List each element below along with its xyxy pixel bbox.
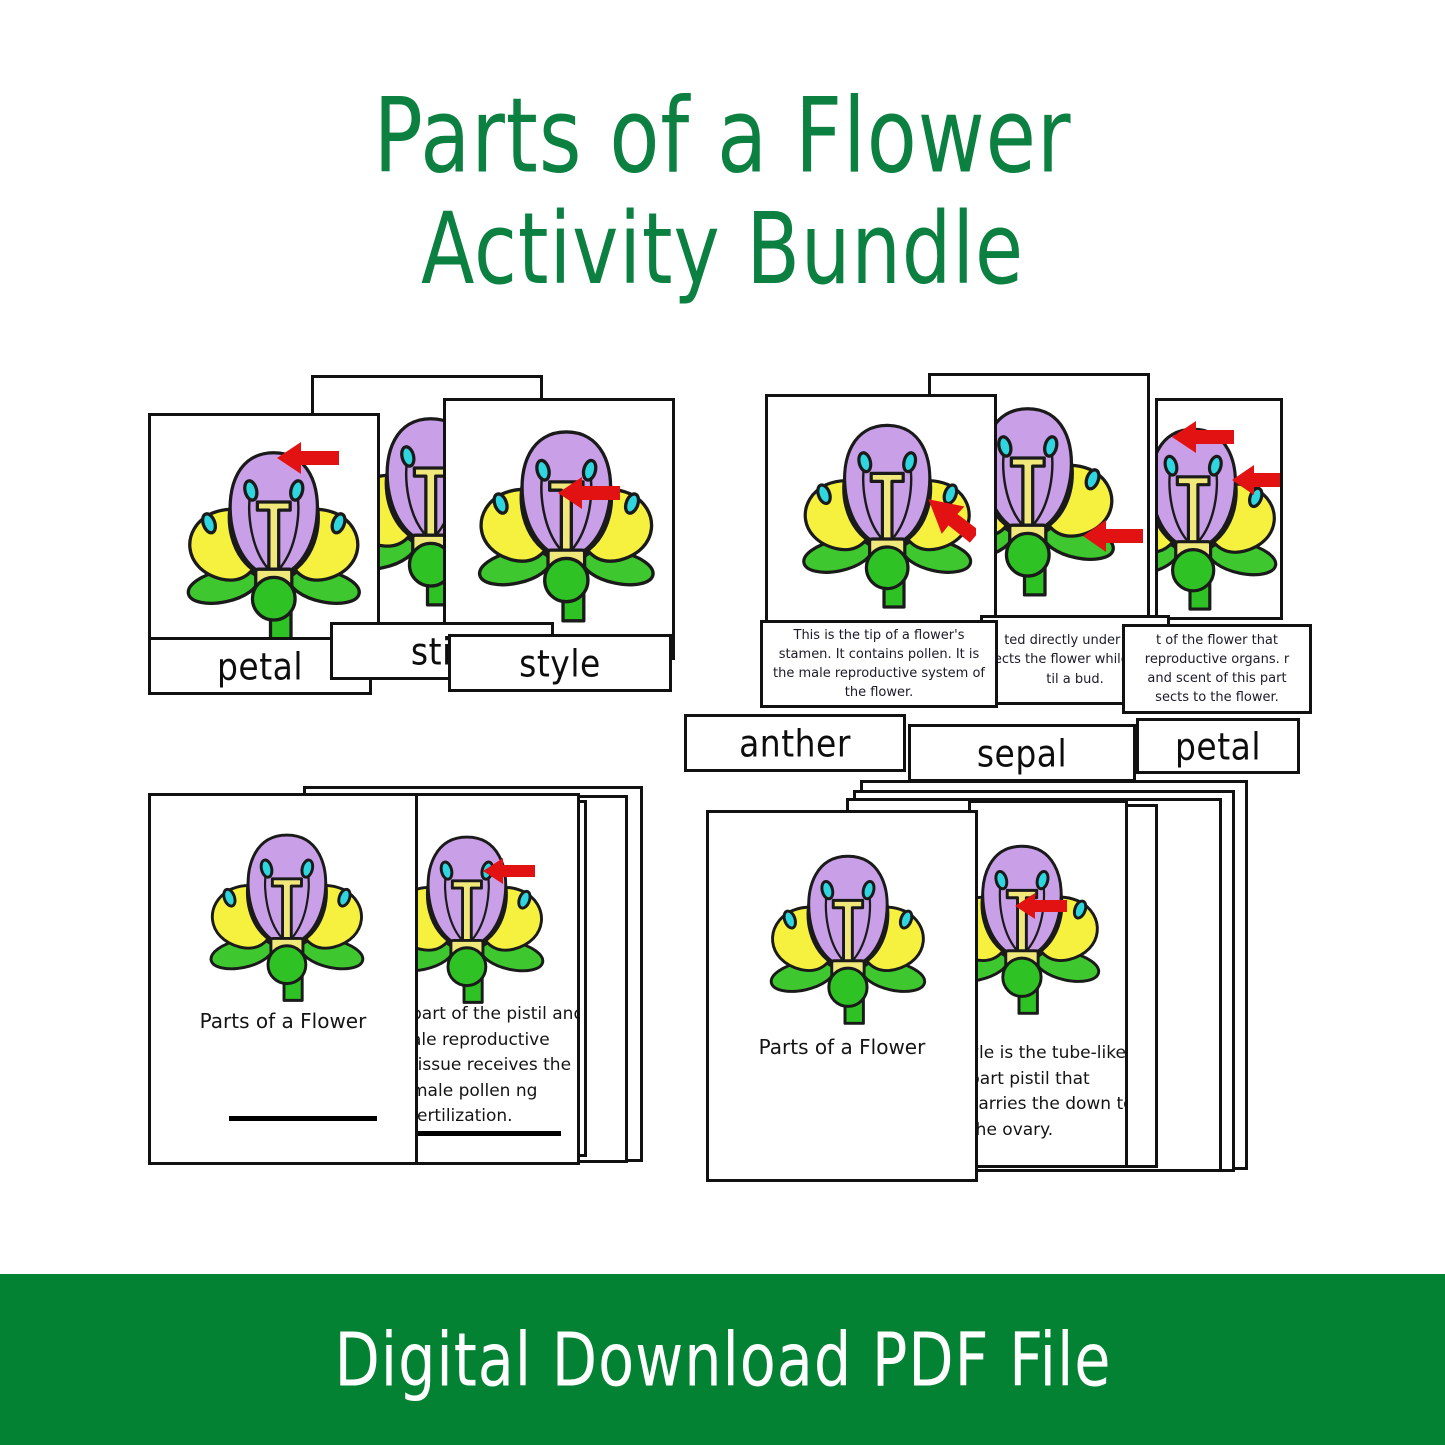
picture-card-anther[interactable] xyxy=(765,394,997,634)
flower-illustration xyxy=(163,438,377,643)
definition-card-anther[interactable]: This is the tip of a flower's stamen. It… xyxy=(760,620,998,708)
booklet-answer-line xyxy=(229,1116,377,1121)
label-card-text: style xyxy=(519,641,601,685)
flower-illustration xyxy=(454,417,672,625)
booklet-cover[interactable]: Parts of a Flower xyxy=(148,793,418,1165)
pointer-arrow-icon xyxy=(483,856,535,886)
definition-text: t of the flower that reproductive organs… xyxy=(1133,631,1301,708)
pointer-arrow-icon xyxy=(928,493,976,547)
label-card-text: anther xyxy=(739,721,851,765)
pointer-arrow-icon xyxy=(1172,419,1234,455)
label-card-text: sepal xyxy=(977,731,1067,775)
digital-download-banner: Digital Download PDF File xyxy=(0,1274,1445,1445)
label-card-anther[interactable]: anther xyxy=(684,714,906,772)
picture-card-petal-def[interactable] xyxy=(1155,398,1283,620)
definition-text: This is the tip of a flower's stamen. It… xyxy=(771,626,987,703)
pointer-arrow-icon xyxy=(277,440,339,476)
pointer-arrow-icon xyxy=(558,475,620,511)
flower-illustration xyxy=(189,822,379,1004)
booklet-answer-line xyxy=(415,1131,561,1136)
product-mockup-area: petal stig style xyxy=(0,0,1445,1274)
pointer-arrow-icon xyxy=(1083,518,1143,554)
label-card-style[interactable]: style xyxy=(448,634,672,692)
banner-text: Digital Download PDF File xyxy=(334,1316,1111,1404)
booklet-page-stigma[interactable]: part of the pistil and ale reproductive … xyxy=(412,793,580,1165)
label-card-petal-def[interactable]: petal xyxy=(1136,718,1300,774)
booklet-cover[interactable]: Parts of a Flower xyxy=(706,810,978,1182)
label-card-text: petal xyxy=(1175,724,1261,768)
pointer-arrow-icon xyxy=(1232,463,1280,497)
booklet-page-text: yle is the tube-like part pistil that ca… xyxy=(971,1041,1125,1143)
booklet-page-style[interactable]: yle is the tube-like part pistil that ca… xyxy=(968,800,1128,1168)
picture-card-style[interactable] xyxy=(443,398,675,660)
booklet-cover-title: Parts of a Flower xyxy=(709,1035,975,1059)
pointer-arrow-icon xyxy=(1015,891,1067,921)
booklet-page-text: part of the pistil and ale reproductive … xyxy=(415,1002,577,1130)
label-card-sepal[interactable]: sepal xyxy=(908,724,1136,782)
flower-illustration xyxy=(749,843,941,1027)
booklet-cover-title: Parts of a Flower xyxy=(151,1009,415,1033)
definition-card-petal[interactable]: t of the flower that reproductive organs… xyxy=(1122,624,1312,714)
flower-illustration xyxy=(971,833,1115,1017)
flower-illustration xyxy=(415,824,559,1006)
label-card-text: petal xyxy=(217,644,303,688)
